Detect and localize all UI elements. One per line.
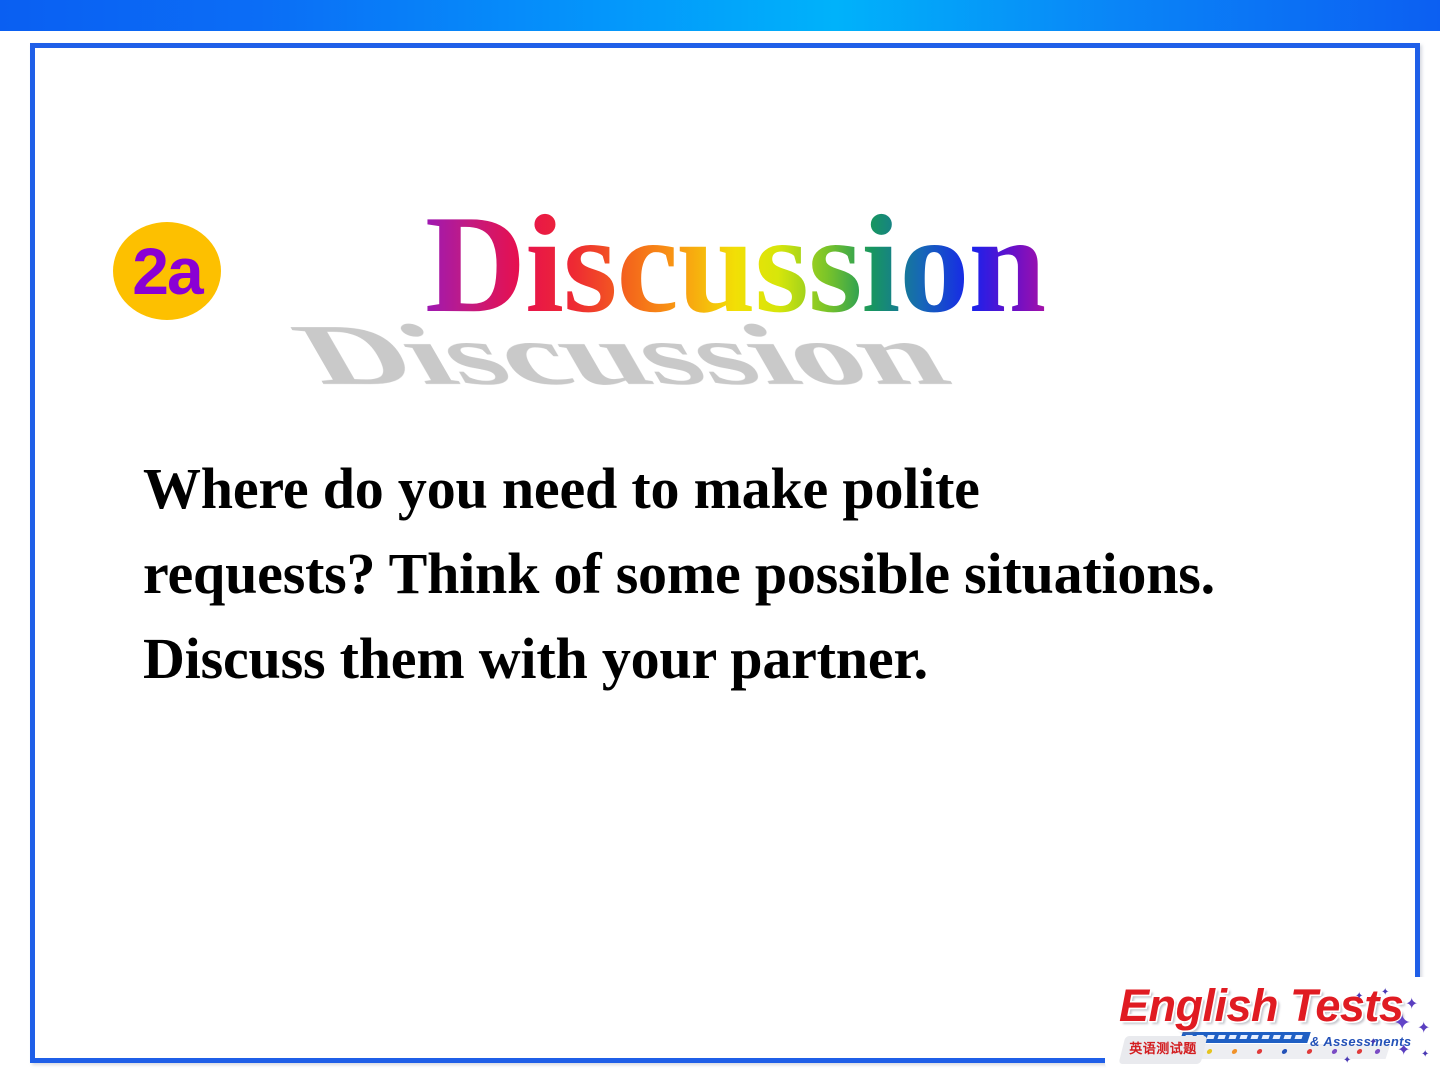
badge-label: 2a: [113, 238, 221, 304]
star-icon: ✦: [1397, 1043, 1410, 1059]
star-icon: ✦: [1369, 1035, 1377, 1051]
logo-cn-badge-text: 英语测试题: [1122, 1036, 1204, 1064]
star-icon: ✦: [1393, 1015, 1411, 1031]
star-icon: ✦: [1355, 989, 1363, 1005]
star-icon: ✦: [1343, 1053, 1351, 1069]
logo-cn-badge: 英语测试题: [1119, 1036, 1208, 1064]
discussion-prompt-text: Where do you need to make polite request…: [143, 446, 1218, 701]
star-icon: ✦: [1417, 1021, 1430, 1037]
wordart-title: Discussion Discussion Discussion: [425, 185, 1045, 370]
top-gradient-bar: [0, 0, 1440, 31]
wordart-face: Discussion: [425, 185, 1045, 345]
activity-badge-2a: 2a: [113, 222, 221, 320]
star-icon: ✦: [1421, 1047, 1429, 1063]
star-icon: ✦: [1381, 985, 1389, 1001]
english-tests-logo: English Tests & Assessments 英语测试题 ✦ ✦ ✦ …: [1105, 975, 1440, 1075]
